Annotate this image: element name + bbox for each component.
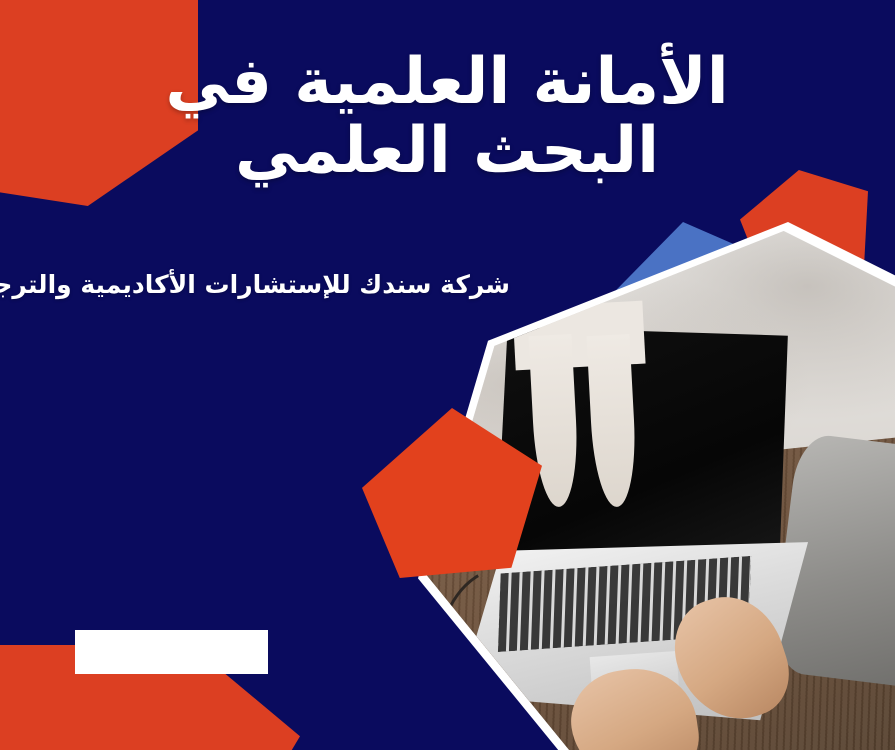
white-bar-shape [75,630,268,674]
poster-canvas: الأمانة العلمية في البحث العلمي شركة سند… [0,0,895,750]
page-title: الأمانة العلمية في البحث العلمي [147,48,747,186]
company-subtitle: شركة سندك للإستشارات الأكاديمية والترجمة [0,270,510,299]
